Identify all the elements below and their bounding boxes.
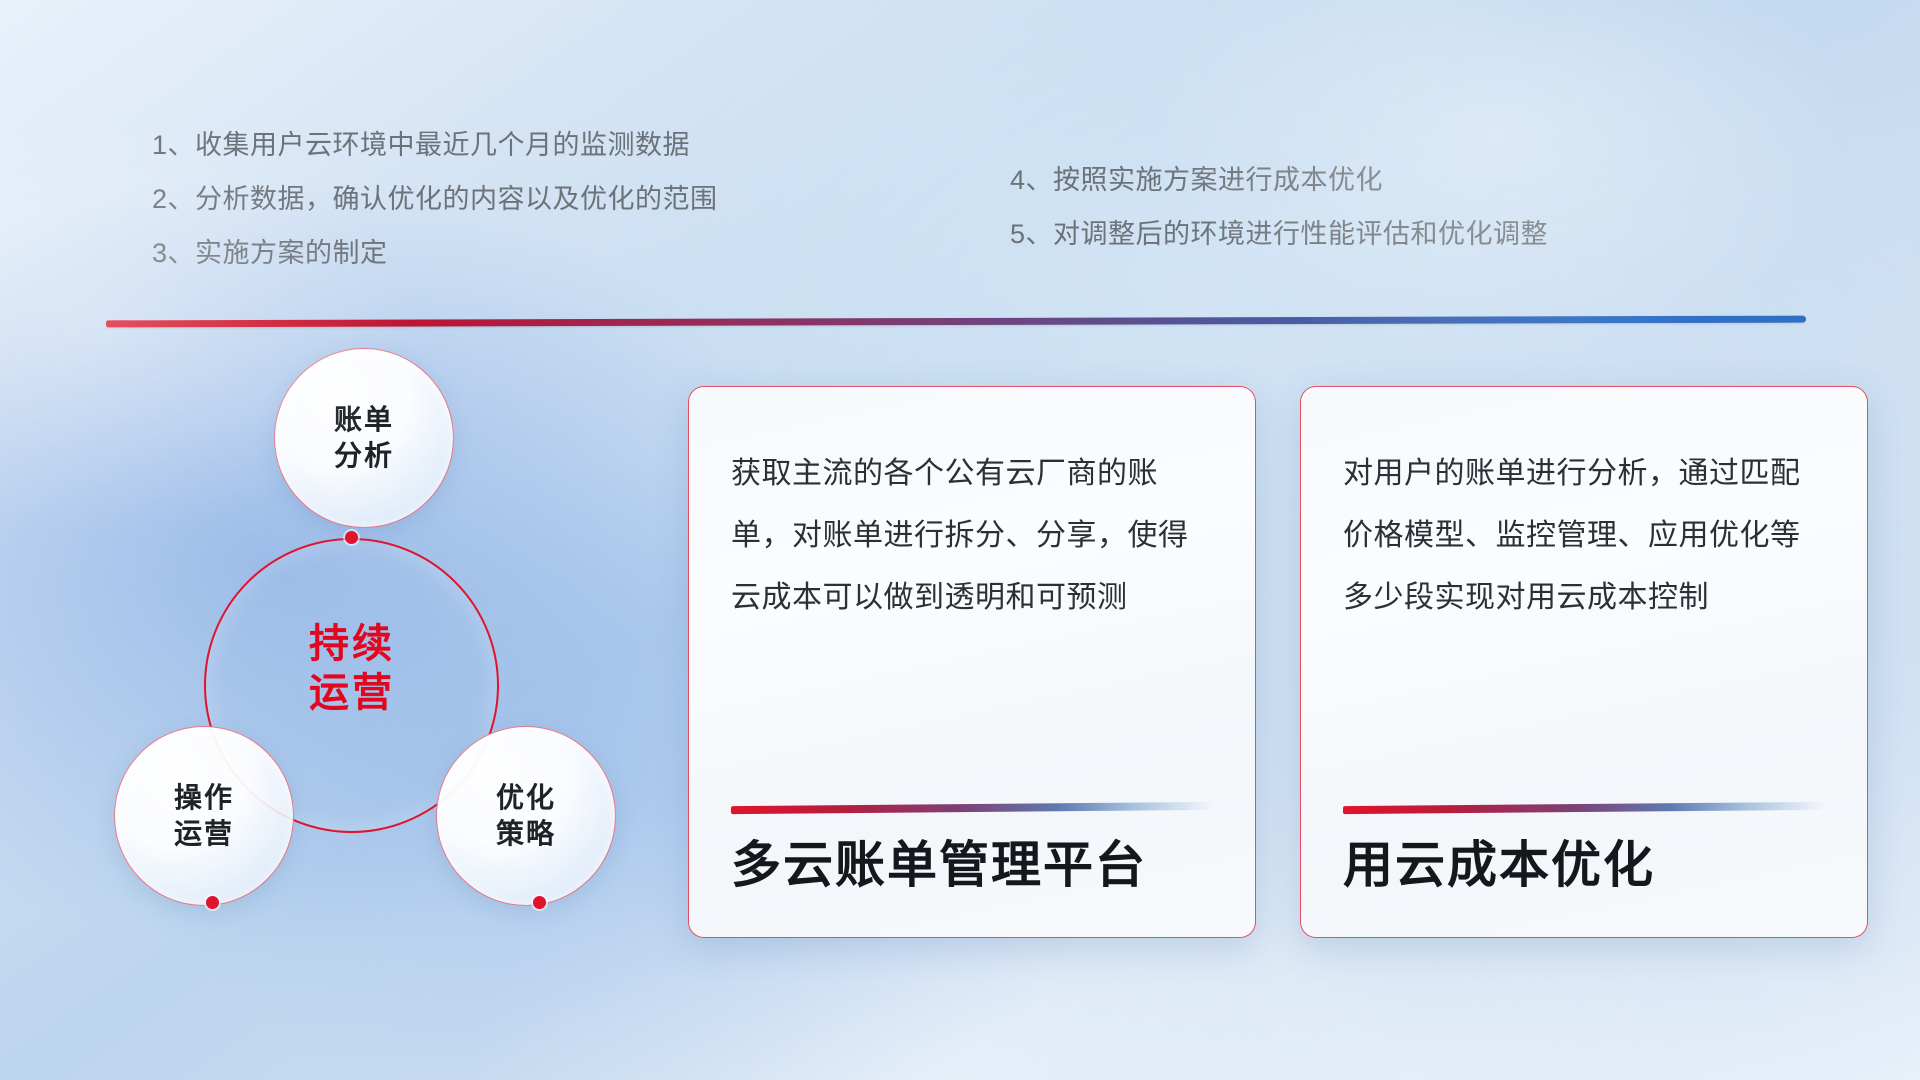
bullet-list-right: 4、按照实施方案进行成本优化 5、对调整后的环境进行性能评估和优化调整 — [1010, 153, 1548, 261]
bubble-label-line-1: 优化 — [496, 780, 556, 816]
card-title: 用云成本优化 — [1343, 838, 1825, 903]
diagram-center-label: 持续 运营 — [242, 620, 462, 718]
card-multi-cloud-billing-platform[interactable]: 获取主流的各个公有云厂商的账单，对账单进行拆分、分享，使得云成本可以做到透明和可… — [688, 386, 1256, 938]
center-label-line-2: 运营 — [242, 669, 462, 718]
section-divider — [106, 316, 1806, 328]
node-dot-icon-top — [345, 531, 358, 544]
card-cloud-cost-optimization[interactable]: 对用户的账单进行分析，通过匹配价格模型、监控管理、应用优化等多少段实现对用云成本… — [1300, 386, 1868, 938]
node-dot-icon-left — [206, 896, 219, 909]
card-body-text: 获取主流的各个公有云厂商的账单，对账单进行拆分、分享，使得云成本可以做到透明和可… — [731, 443, 1213, 804]
node-dot-icon-right — [533, 896, 546, 909]
bubble-label-line-1: 操作 — [174, 780, 234, 816]
bullet-left-1: 1、收集用户云环境中最近几个月的监测数据 — [152, 118, 718, 172]
bullet-left-3: 3、实施方案的制定 — [152, 226, 718, 280]
center-label-line-1: 持续 — [242, 620, 462, 669]
bullet-right-2: 5、对调整后的环境进行性能评估和优化调整 — [1010, 207, 1548, 261]
bullet-right-1: 4、按照实施方案进行成本优化 — [1010, 153, 1548, 207]
diagram-bubble-operations[interactable]: 操作 运营 — [114, 726, 294, 906]
bubble-label-line-2: 分析 — [334, 438, 394, 474]
diagram-bubble-bill-analysis[interactable]: 账单 分析 — [274, 348, 454, 528]
continuous-operation-diagram: 持续 运营 账单 分析 操作 运营 优化 策略 — [96, 348, 656, 948]
bubble-label-line-2: 运营 — [174, 816, 234, 852]
bullet-left-2: 2、分析数据，确认优化的内容以及优化的范围 — [152, 172, 718, 226]
card-body-text: 对用户的账单进行分析，通过匹配价格模型、监控管理、应用优化等多少段实现对用云成本… — [1343, 443, 1825, 804]
slide-canvas: 1、收集用户云环境中最近几个月的监测数据 2、分析数据，确认优化的内容以及优化的… — [0, 0, 1920, 1080]
bullet-list-left: 1、收集用户云环境中最近几个月的监测数据 2、分析数据，确认优化的内容以及优化的… — [152, 118, 718, 280]
card-title: 多云账单管理平台 — [731, 838, 1213, 903]
bubble-label-line-1: 账单 — [334, 402, 394, 438]
bubble-label-line-2: 策略 — [496, 816, 556, 852]
diagram-bubble-optimization-strategy[interactable]: 优化 策略 — [436, 726, 616, 906]
